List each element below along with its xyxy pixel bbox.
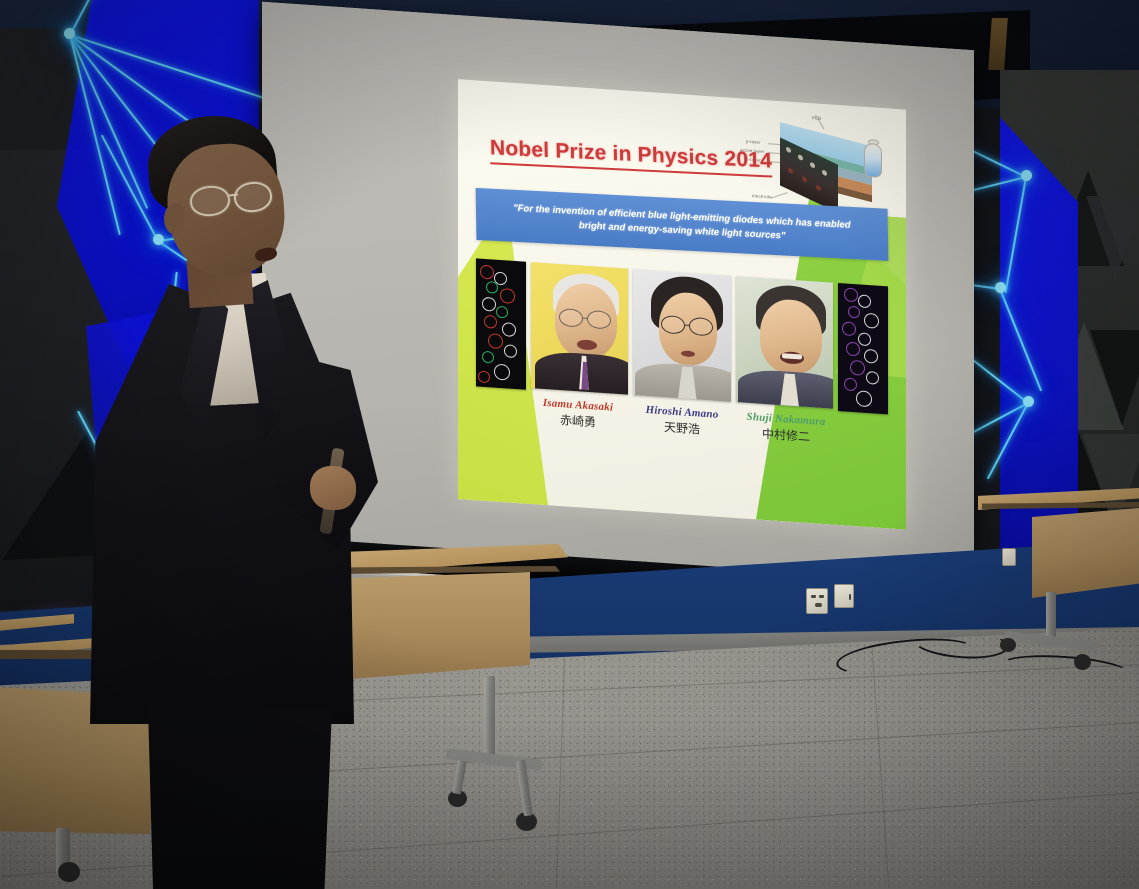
- led-contact-dot: [810, 161, 815, 168]
- crystal-structure-image-left: [476, 258, 526, 389]
- projection-screen-surface: PEB p-layer active layer n-layer electro…: [262, 2, 974, 617]
- switch-plate[interactable]: [834, 584, 854, 608]
- led-contact-dot: [786, 146, 791, 153]
- right-table-leg: [1046, 592, 1056, 642]
- laureate-name-2: Hiroshi Amano 天野浩: [630, 403, 734, 456]
- laureate-portrait-akasaki: [531, 262, 628, 395]
- power-outlet-plate[interactable]: [806, 588, 828, 614]
- led-contact-dot: [788, 167, 793, 174]
- laureate-name-3: Shuji Nakamura 中村修二: [734, 410, 838, 463]
- led-leader-line: [771, 192, 788, 198]
- laureate-portrait-amano: [633, 269, 730, 402]
- laureate-name-1: Isamu Akasaki 赤崎勇: [526, 396, 630, 449]
- presenter-trousers: [136, 708, 336, 889]
- presentation-slide: PEB p-layer active layer n-layer electro…: [458, 79, 906, 530]
- slide-title: Nobel Prize in Physics 2014: [490, 136, 773, 177]
- right-table-caster: [1000, 638, 1016, 652]
- presenter: [82, 108, 368, 889]
- nobel-citation-text: "For the invention of efficient blue lig…: [505, 202, 859, 247]
- lecture-hall-scene: PEB p-layer active layer n-layer electro…: [0, 0, 1139, 889]
- names-spacer-left: [476, 392, 526, 441]
- led-contact-dot: [816, 184, 821, 191]
- presenter-hand: [310, 466, 356, 510]
- led-contact-dot: [802, 176, 807, 183]
- right-table-caster: [1074, 654, 1091, 670]
- foreground-table-caster: [58, 862, 80, 882]
- left-outlet-plate[interactable]: [1002, 548, 1016, 566]
- presenter-ear: [164, 204, 184, 234]
- led-contact-dot: [822, 169, 827, 176]
- crystal-structure-image-right: [838, 283, 888, 414]
- led-label-p-layer: p-layer: [746, 139, 761, 145]
- center-table-leg: [484, 676, 495, 760]
- right-table-modesty-panel: [1032, 508, 1139, 598]
- blue-led-bulb-icon: [864, 143, 882, 178]
- led-label-electrode: electrode: [752, 193, 772, 199]
- laureate-portrait-nakamura: [736, 276, 833, 409]
- laureate-photos-row: [476, 258, 888, 414]
- names-spacer-right: [838, 417, 888, 466]
- led-contact-dot: [798, 154, 803, 161]
